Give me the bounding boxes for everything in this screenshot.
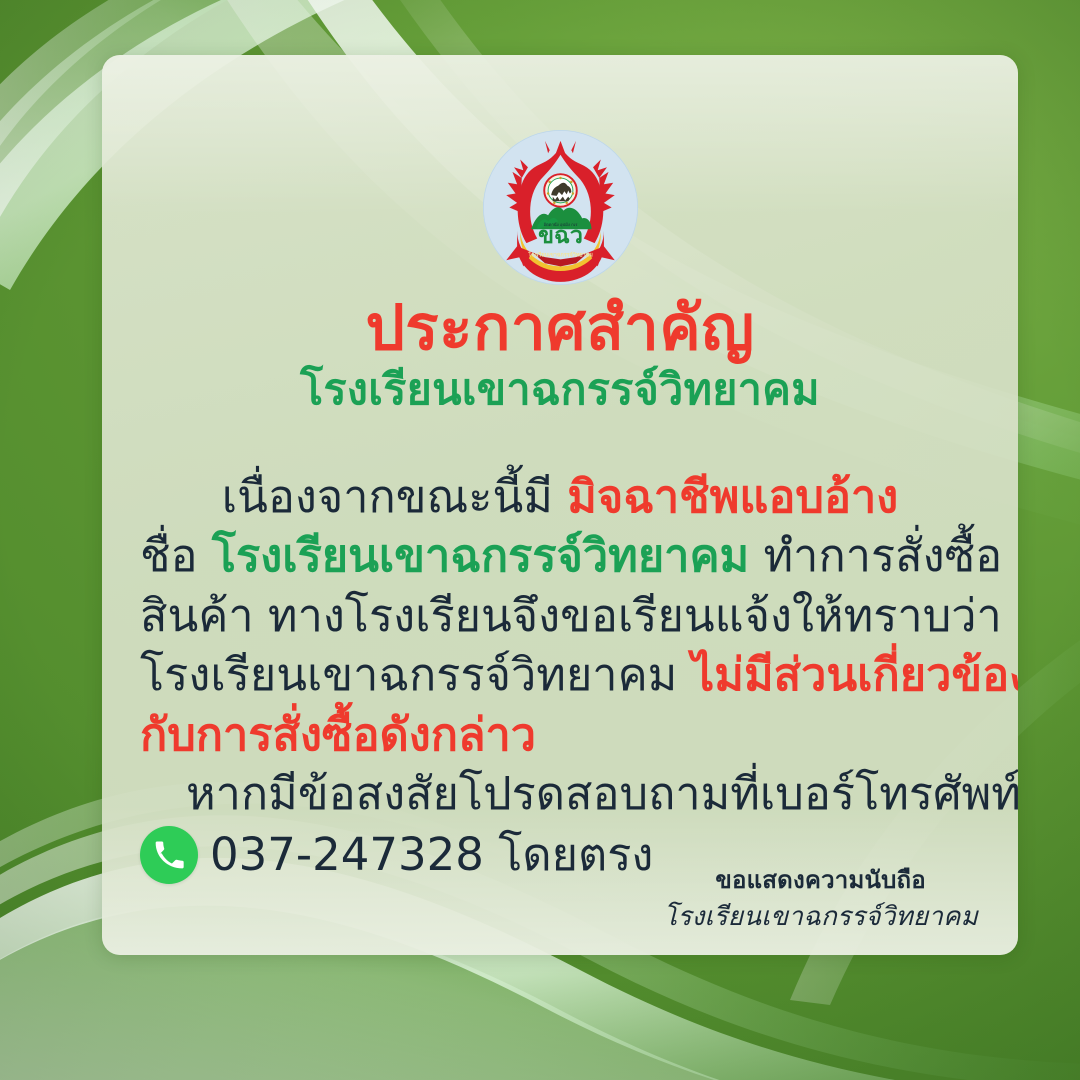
body-line-4-plain: โรงเรียนเขาฉกรรจ์วิทยาคม (140, 648, 692, 701)
page-subtitle: โรงเรียนเขาฉกรรจ์วิทยาคม (102, 366, 1018, 414)
poster-canvas: อัตตานัง อุปมัง กเร ขฉว โรงเรียนเขาฉกรรจ… (0, 0, 1080, 1080)
signature-closing: ขอแสดงความนับถือ (663, 862, 978, 898)
announcement-card: อัตตานัง อุปมัง กเร ขฉว โรงเรียนเขาฉกรรจ… (102, 55, 1018, 955)
body-line-1-highlight: มิจฉาชีพแอบอ้าง (567, 470, 898, 523)
page-title: ประกาศสำคัญ (102, 295, 1018, 360)
emblem-monogram: ขฉว (538, 222, 583, 249)
body-line-1-plain: เนื่องจากขณะนี้มี (222, 470, 567, 523)
announcement-body: เนื่องจากขณะนี้มี มิจฉาชีพแอบอ้าง ชื่อ โ… (128, 467, 992, 885)
phone-icon[interactable] (140, 826, 198, 884)
body-line-4-highlight: ไม่มีส่วนเกี่ยวข้อง (692, 648, 1018, 701)
body-line-6: หากมีข้อสงสัยโปรดสอบถามที่เบอร์โทรศัพท์ (128, 764, 992, 823)
emblem-container: อัตตานัง อุปมัง กเร ขฉว โรงเรียนเขาฉกรรจ… (102, 130, 1018, 285)
body-line-2-plain: ชื่อ (140, 529, 212, 582)
signature-block: ขอแสดงความนับถือ โรงเรียนเขาฉกรรจ์วิทยาค… (663, 862, 978, 937)
signature-name: โรงเรียนเขาฉกรรจ์วิทยาคม (663, 898, 978, 937)
heading-block: ประกาศสำคัญ โรงเรียนเขาฉกรรจ์วิทยาคม (102, 295, 1018, 414)
school-emblem-icon: อัตตานัง อุปมัง กเร ขฉว โรงเรียนเขาฉกรรจ… (483, 130, 638, 285)
body-line-1: เนื่องจากขณะนี้มี มิจฉาชีพแอบอ้าง (128, 467, 992, 526)
body-line-4: โรงเรียนเขาฉกรรจ์วิทยาคม ไม่มีส่วนเกี่ยว… (128, 645, 992, 704)
body-line-3: สินค้า ทางโรงเรียนจึงขอเรียนแจ้งให้ทราบว… (128, 586, 992, 645)
body-line-2-school: โรงเรียนเขาฉกรรจ์วิทยาคม (212, 529, 749, 582)
body-line-2-tail: ทำการสั่งซื้อ (749, 529, 1002, 582)
phone-number-text[interactable]: 037-247328 โดยตรง (210, 825, 653, 884)
body-line-5: กับการสั่งซื้อดังกล่าว (128, 705, 992, 764)
body-line-2: ชื่อ โรงเรียนเขาฉกรรจ์วิทยาคม ทำการสั่งซ… (128, 526, 992, 585)
